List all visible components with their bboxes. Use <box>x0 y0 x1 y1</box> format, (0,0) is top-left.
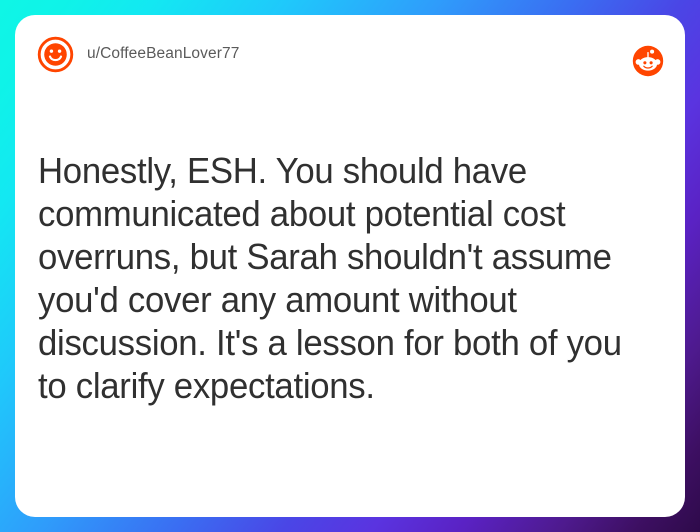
reddit-snoo-icon[interactable] <box>632 45 664 77</box>
gradient-background: u/CoffeeBeanLover77 <box>0 0 700 532</box>
post-body: Honestly, ESH. You should have communica… <box>15 93 685 517</box>
smiley-face-icon[interactable] <box>37 36 74 73</box>
reddit-post-card: u/CoffeeBeanLover77 <box>15 15 685 517</box>
username-label: u/CoffeeBeanLover77 <box>87 45 239 63</box>
post-text: Honestly, ESH. You should have communica… <box>38 149 643 407</box>
post-header: u/CoffeeBeanLover77 <box>15 15 685 93</box>
